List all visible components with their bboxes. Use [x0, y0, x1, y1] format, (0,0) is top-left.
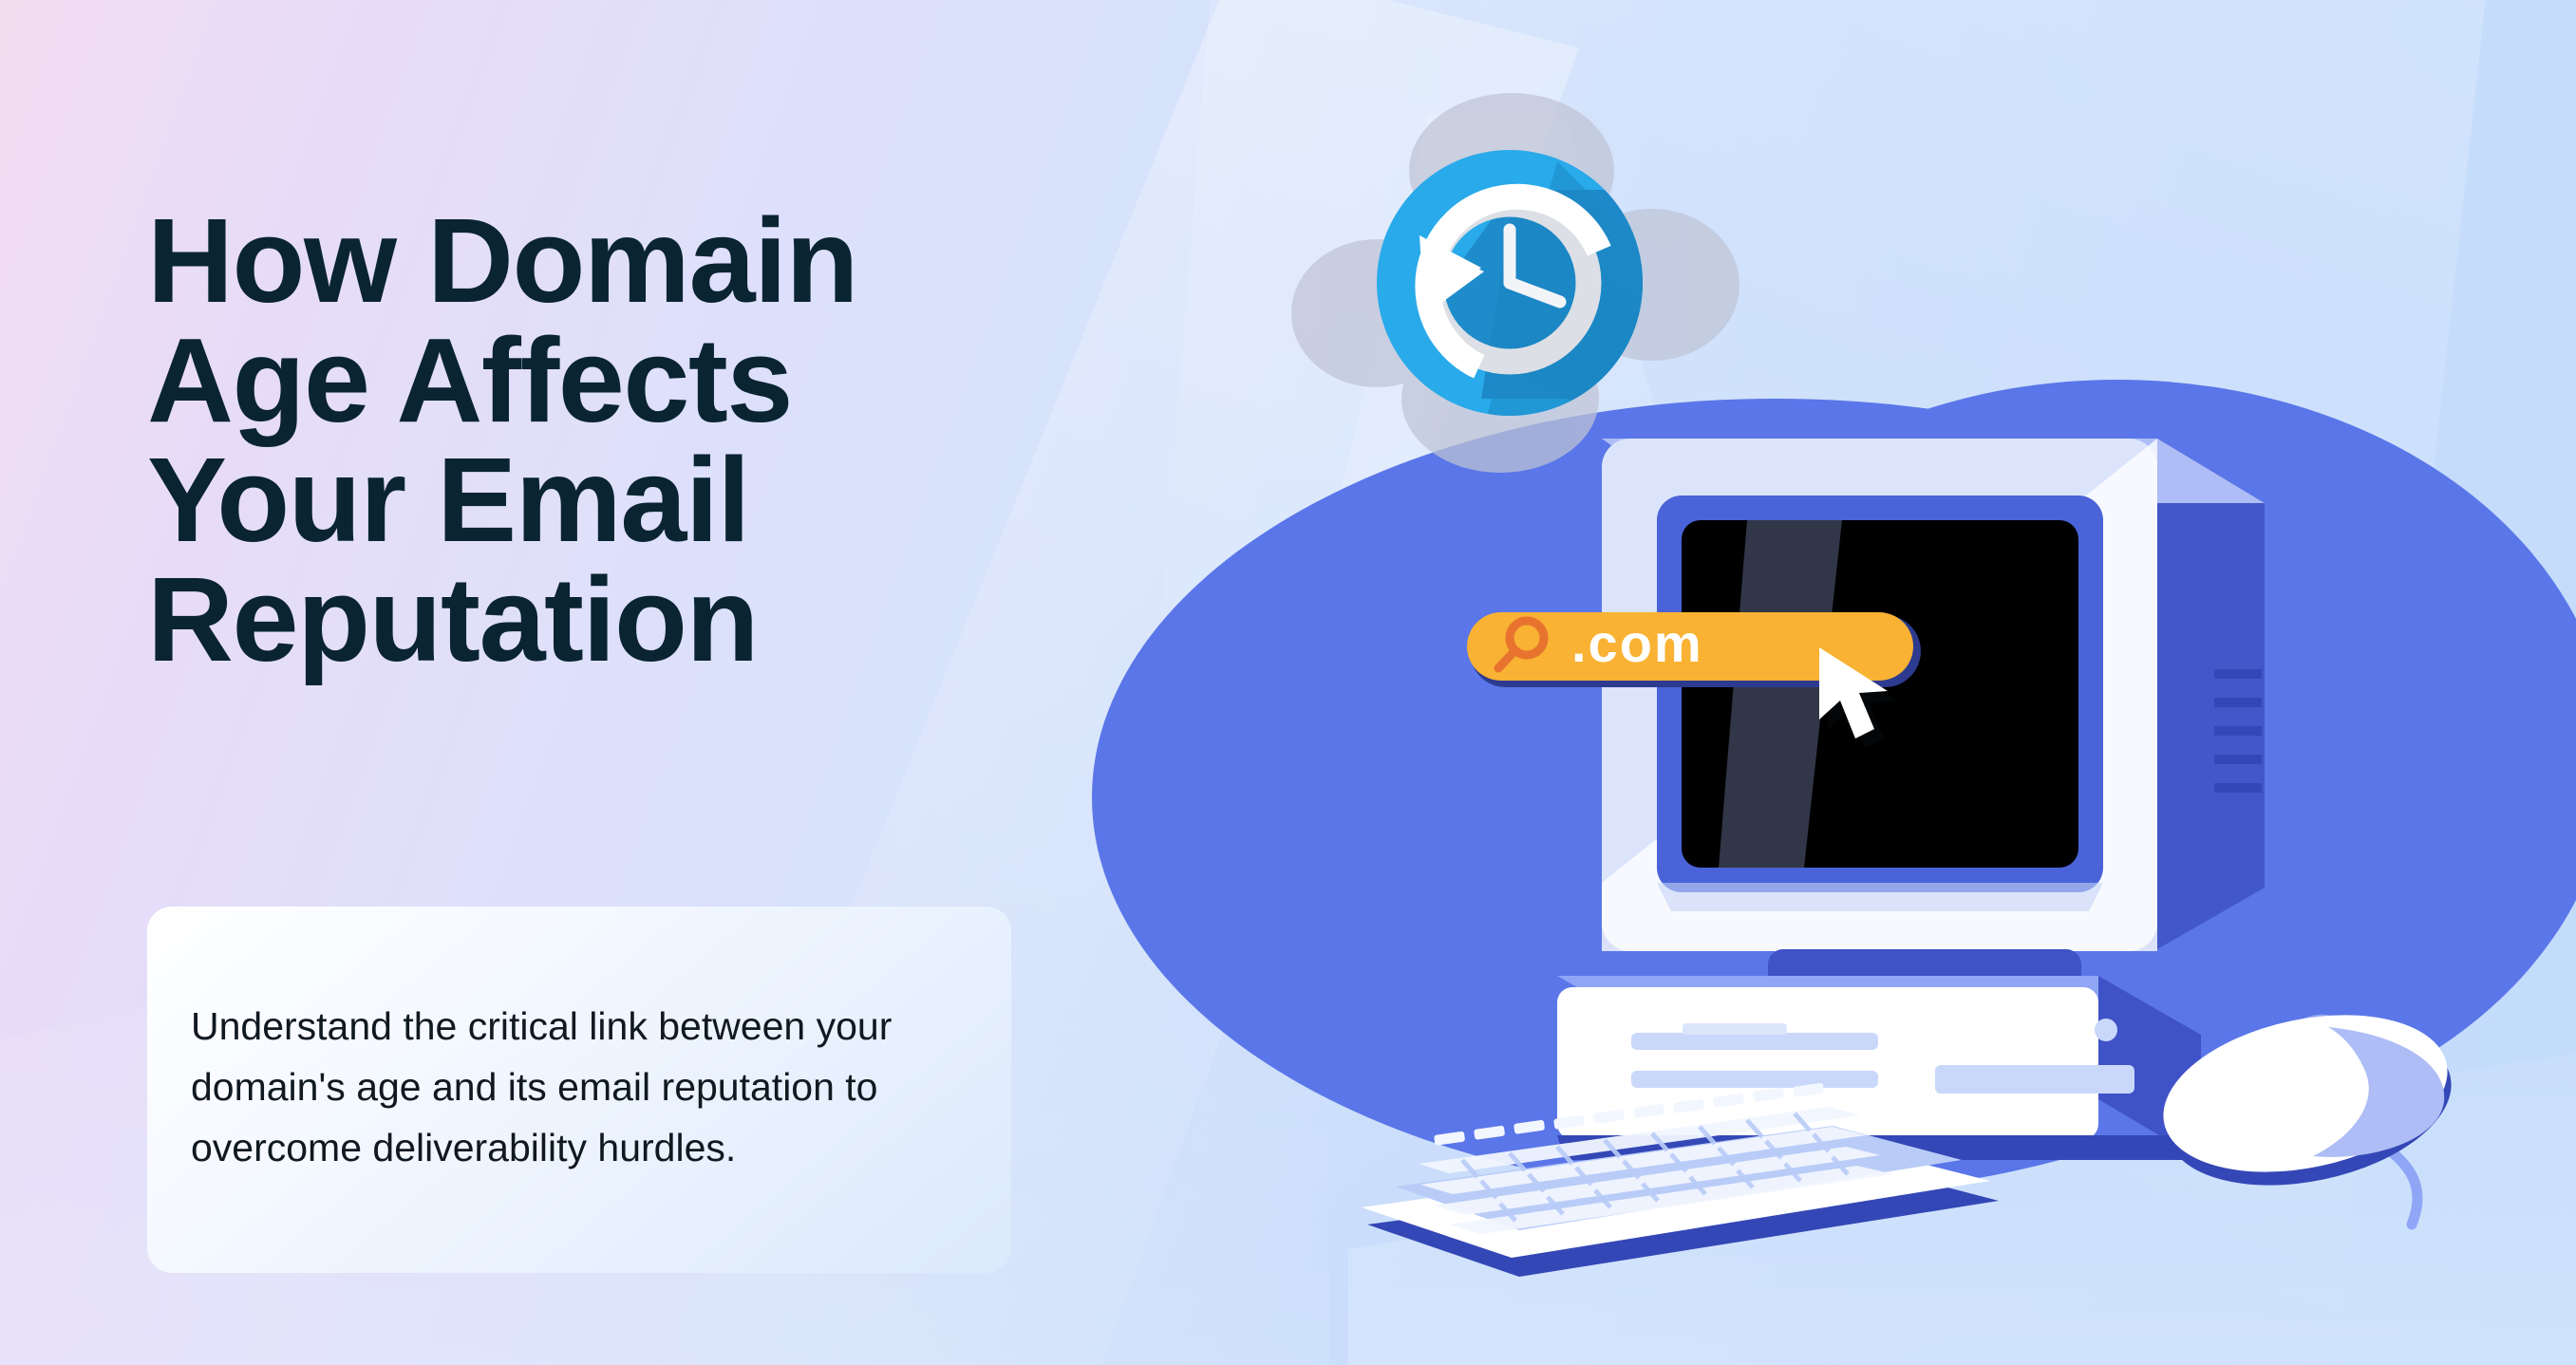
hero-banner: .com How Domain Age Affects Your Email R…	[0, 0, 2576, 1365]
crt-monitor	[1602, 439, 2265, 951]
page-title: How Domain Age Affects Your Email Reputa…	[147, 201, 1211, 680]
search-query-text: .com	[1571, 613, 1703, 673]
subtitle-card: Understand the critical link between you…	[147, 907, 1011, 1273]
subtitle-text: Understand the critical link between you…	[191, 997, 968, 1179]
